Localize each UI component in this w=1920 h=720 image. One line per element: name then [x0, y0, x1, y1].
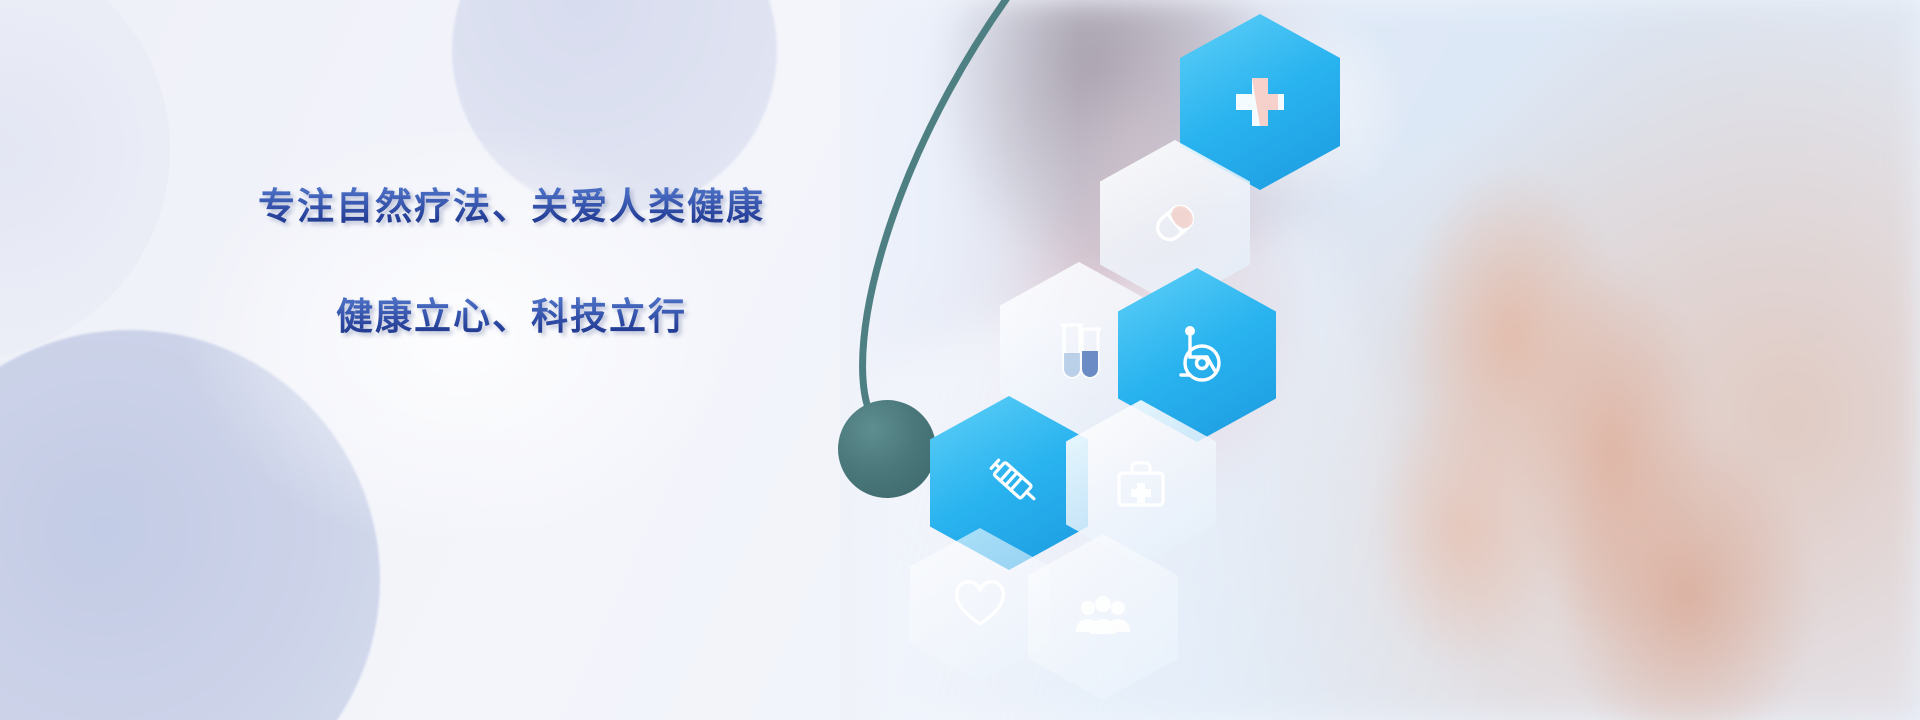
hero-banner: 专注自然疗法、关爱人类健康 健康立心、科技立行 — [0, 0, 1920, 720]
background-edge-glow — [0, 0, 170, 360]
hexagon-icon-cluster — [900, 0, 1540, 720]
headline-block: 专注自然疗法、关爱人类健康 健康立心、科技立行 — [258, 186, 765, 338]
background-circle-bottom — [0, 330, 380, 720]
background-circle-top — [452, 0, 777, 213]
people-group-icon — [1028, 534, 1178, 700]
headline-line-2: 健康立心、科技立行 — [336, 296, 765, 338]
headline-line-1: 专注自然疗法、关爱人类健康 — [258, 186, 765, 228]
